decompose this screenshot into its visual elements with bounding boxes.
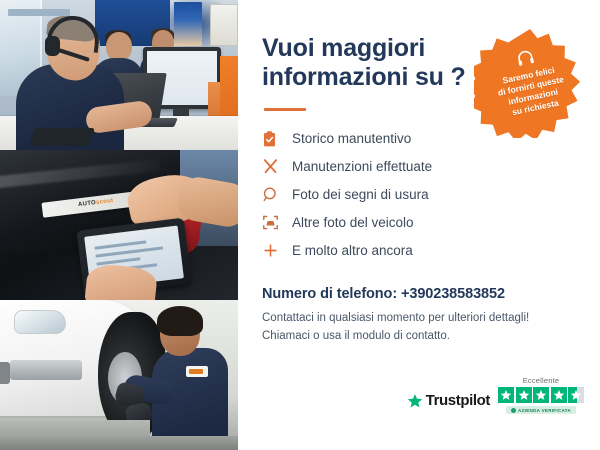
title-divider <box>264 108 306 111</box>
contact-note-line-2: Chiamaci o usa il modulo di contatto. <box>262 328 578 346</box>
garage-mechanic-photo <box>0 300 238 450</box>
star-filled <box>551 387 567 403</box>
verified-text: AZIENDA VERIFICATA <box>518 408 571 413</box>
seal-text: Saremo felici di fornirti queste informa… <box>487 62 576 122</box>
star-half <box>568 387 584 403</box>
feature-item-foto-segni-usura: Foto dei segni di usura <box>262 181 578 208</box>
trustpilot-name: Trustpilot <box>426 392 490 409</box>
headlight-shape <box>14 310 66 334</box>
monitor-screen-bar <box>8 9 70 16</box>
trustpilot-logo: Trustpilot <box>407 392 490 414</box>
verified-check-icon <box>511 408 516 413</box>
promo-banner: AUTOscout <box>0 0 600 450</box>
photo-column: AUTOscout <box>0 0 238 450</box>
feature-label: E molto altro ancora <box>292 243 413 258</box>
feature-label: Storico manutentivo <box>292 131 411 146</box>
content-panel: Vuoi maggiori informazioni su ? Saremo f… <box>238 0 600 450</box>
trustpilot-star-icon <box>407 393 423 409</box>
headset-earcup-icon <box>45 36 60 56</box>
magnifier-icon <box>262 185 284 205</box>
poster-shape <box>174 2 202 46</box>
contact-note: Contattaci in qualsiasi momento per ulte… <box>262 310 578 346</box>
trustpilot-rating: Eccellente <box>498 376 584 414</box>
feature-item-molto-altro: E molto altro ancora <box>262 237 578 264</box>
front-grille-shape-2 <box>0 362 10 384</box>
feature-label: Altre foto del veicolo <box>292 215 414 230</box>
mechanic-hair <box>157 306 203 336</box>
garage-floor <box>0 436 238 450</box>
star-filled <box>533 387 549 403</box>
headline-line-2: informazioni su ? <box>262 63 466 91</box>
page-title: Vuoi maggiori informazioni su ? <box>262 34 477 92</box>
desk-tablet-shape <box>29 128 95 146</box>
phone-number-line: Numero di telefono: +390238583852 <box>262 286 578 302</box>
poster-shape-2 <box>210 4 238 46</box>
feature-label: Foto dei segni di usura <box>292 187 429 202</box>
plus-icon <box>262 241 284 261</box>
front-grille-shape <box>10 360 82 380</box>
feature-item-manutenzioni-effettuate: Manutenzioni effettuate <box>262 153 578 180</box>
crossed-tools-icon <box>262 157 284 177</box>
verified-business-badge: AZIENDA VERIFICATA <box>506 406 576 414</box>
headset-icon <box>514 47 537 70</box>
feature-label: Manutenzioni effettuate <box>292 159 432 174</box>
seal-content: Saremo felici di fornirti queste informa… <box>464 16 597 149</box>
call-center-photo <box>0 0 238 150</box>
tablet-line <box>96 257 140 265</box>
star-filled <box>498 387 514 403</box>
clipboard-check-icon <box>262 129 284 149</box>
feature-item-altre-foto-veicolo: Altre foto del veicolo <box>262 209 578 236</box>
headline-line-1: Vuoi maggiori <box>262 34 425 62</box>
info-on-request-seal: Saremo felici di fornirti queste informa… <box>474 26 586 138</box>
vehicle-inspection-photo: AUTOscout <box>0 150 238 300</box>
star-rating <box>498 387 584 403</box>
phone-label: Numero di telefono: <box>262 286 401 302</box>
trustpilot-widget[interactable]: Trustpilot Eccellente <box>407 376 584 414</box>
feature-list: Storico manutentivo Manutenzioni effettu… <box>262 125 578 264</box>
uniform-badge <box>186 366 208 377</box>
phone-number[interactable]: +390238583852 <box>401 286 505 302</box>
star-filled <box>516 387 532 403</box>
rating-label: Eccellente <box>523 376 560 385</box>
contact-note-line-1: Contattaci in qualsiasi momento per ulte… <box>262 310 578 328</box>
car-scan-frame-icon <box>262 213 284 233</box>
